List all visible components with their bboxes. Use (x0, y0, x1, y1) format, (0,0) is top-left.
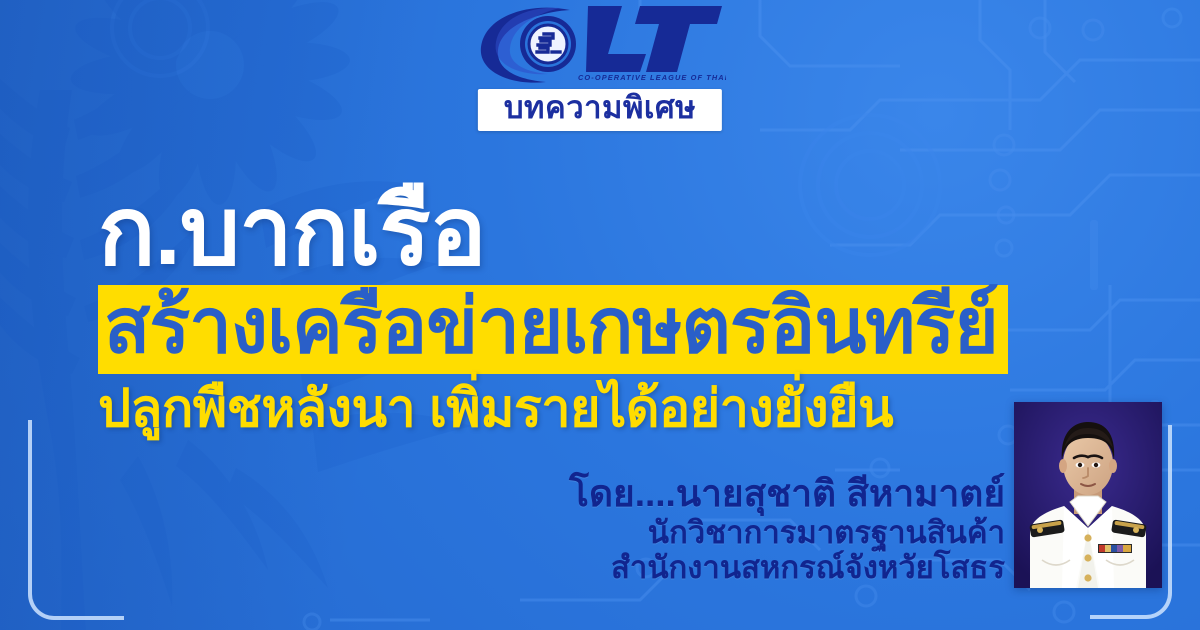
credit-office: สำนักงานสหกรณ์จังหวัยโสธร (569, 550, 1005, 586)
clt-logo: CO-OPERATIVE LEAGUE OF THAILAND (0, 2, 1200, 86)
author-portrait-image (1014, 402, 1162, 588)
credit-position: นักวิชาการมาตรฐานสินค้า (569, 515, 1005, 551)
author-portrait (1014, 402, 1162, 588)
banner-canvas: CO-OPERATIVE LEAGUE OF THAILAND บทความพิ… (0, 0, 1200, 630)
ribbon-bar (1098, 544, 1132, 553)
headline-highlight-band: สร้างเครือข่ายเกษตรอินทรีย์ (98, 285, 1008, 374)
badge-label: บทความพิเศษ (504, 92, 696, 125)
headline-line-1: ก.บากเรือ (98, 186, 1108, 279)
frame-corner-left (28, 420, 124, 620)
special-article-badge: บทความพิเศษ (478, 89, 722, 131)
headline-line-2: สร้างเครือข่ายเกษตรอินทรีย์ (104, 287, 998, 366)
logo-subtitle-en: CO-OPERATIVE LEAGUE OF THAILAND (578, 73, 726, 82)
headline-line-3: ปลูกพืชหลังนา เพิ่มรายได้อย่างยั่งยืน (98, 382, 1108, 437)
credit-author: โดย....นายสุชาติ สีหามาตย์ (569, 473, 1005, 515)
clt-logo-mark: CO-OPERATIVE LEAGUE OF THAILAND (474, 2, 726, 86)
headline-block: ก.บากเรือ สร้างเครือข่ายเกษตรอินทรีย์ ปล… (98, 186, 1108, 437)
credits-block: โดย....นายสุชาติ สีหามาตย์ นักวิชาการมาต… (569, 473, 1005, 586)
